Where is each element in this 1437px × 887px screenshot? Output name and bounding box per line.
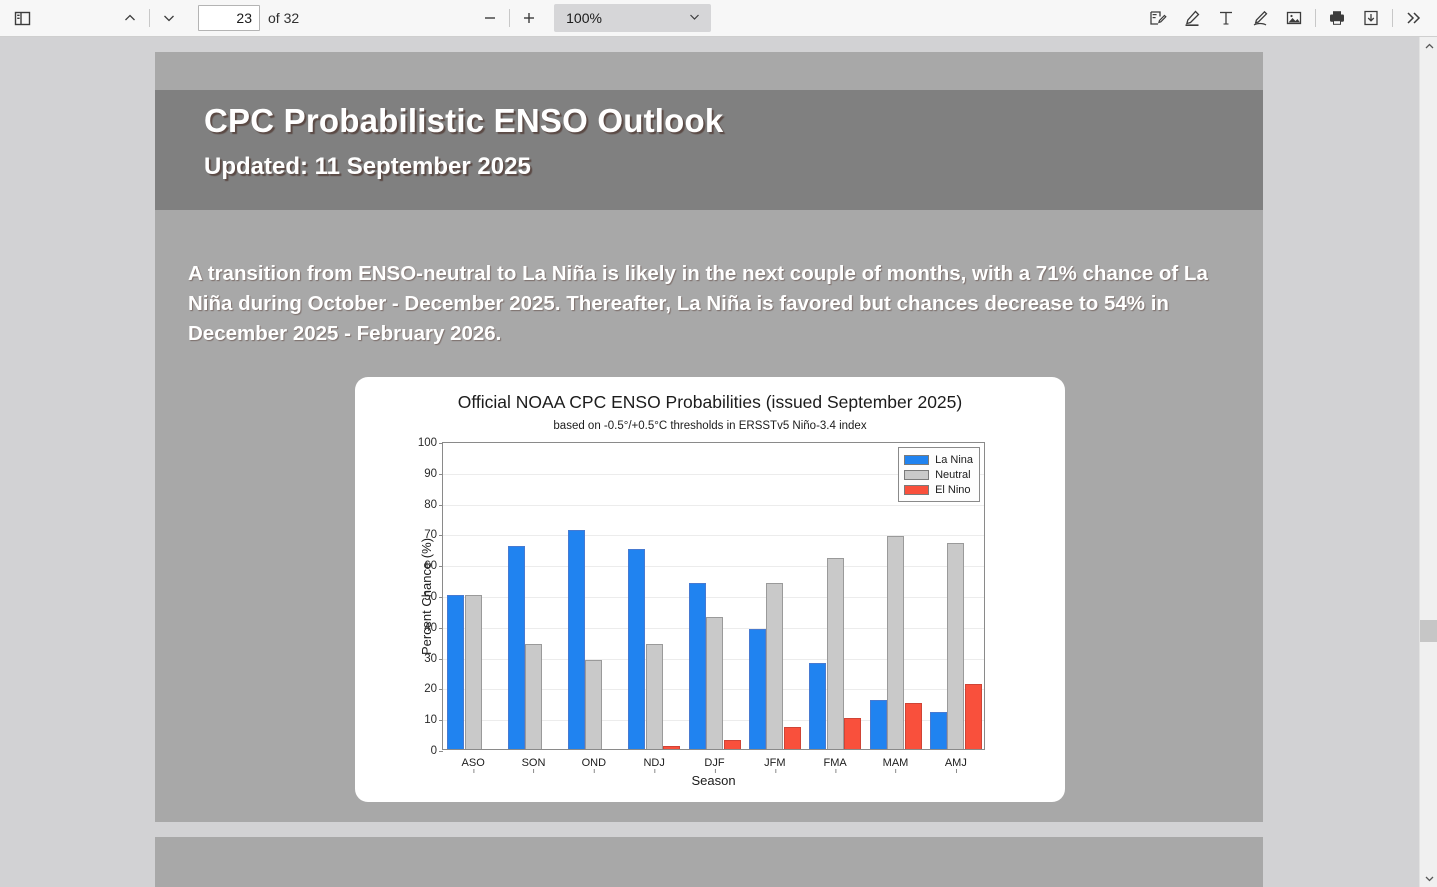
gridline [443,505,984,506]
zoom-out-button[interactable] [475,3,505,33]
sidebar-toggle-icon[interactable] [7,3,37,33]
y-axis-tick-label: 60 [424,560,437,572]
pdf-viewer[interactable]: CPC Probabilistic ENSO Outlook Updated: … [0,37,1419,887]
x-axis-tick-label: ASO [462,757,485,769]
legend-label: La Nina [935,454,973,466]
vertical-scrollbar[interactable] [1419,37,1437,887]
chart-title: Official NOAA CPC ENSO Probabilities (is… [355,392,1065,413]
chart-bar [508,546,525,749]
y-axis-tick-mark [439,689,443,690]
legend-swatch [904,485,929,495]
scroll-up-icon[interactable] [1420,37,1437,55]
chart-bar [689,583,706,749]
chart-subtitle: based on -0.5°/+0.5°C thresholds in ERSS… [355,420,1065,432]
toolbar-divider [509,9,510,27]
chart-bar [447,595,464,749]
page-count-label: of 32 [268,10,299,26]
chart-bar [706,617,723,749]
legend-swatch [904,470,929,480]
enso-probability-chart: Official NOAA CPC ENSO Probabilities (is… [355,377,1065,802]
chart-bar [766,583,783,749]
chart-bar [887,536,904,749]
chart-bar [585,660,602,749]
x-axis-tick-label: OND [582,757,606,769]
zoom-level-select[interactable]: 100% [554,4,711,32]
chart-legend: La NinaNeutralEl Nino [898,447,980,502]
summary-paragraph: A transition from ENSO-neutral to La Niñ… [188,259,1223,349]
x-axis-tick-label: FMA [824,757,847,769]
page-title: CPC Probabilistic ENSO Outlook [204,102,723,140]
add-text-icon[interactable] [1209,3,1243,33]
chart-bar [663,746,680,749]
toolbar-divider [1392,9,1393,27]
y-axis-tick-mark [439,628,443,629]
y-axis-tick-label: 80 [424,499,437,511]
legend-item: El Nino [904,482,973,497]
page-updated-date: Updated: 11 September 2025 [204,153,531,181]
highlight-icon[interactable] [1175,3,1209,33]
x-axis-tick-label: DJF [704,757,724,769]
chart-bar [870,700,887,749]
chart-bar [568,530,585,749]
chart-bar [930,712,947,749]
y-axis-tick-label: 70 [424,529,437,541]
y-axis-tick-mark [439,474,443,475]
toolbar-divider [1315,9,1316,27]
chart-bar [809,663,826,749]
chart-bar [827,558,844,749]
chart-bar [965,684,982,749]
chart-bar [947,543,964,749]
chart-bar [905,703,922,749]
chart-bar [465,595,482,749]
toolbar-divider [149,9,150,27]
chevron-up-icon[interactable] [115,3,145,33]
y-axis-tick-mark [439,720,443,721]
y-axis-tick-label: 0 [431,745,437,757]
chevron-down-icon[interactable] [154,3,184,33]
chart-x-axis-label: Season [442,773,985,788]
add-note-icon[interactable] [1141,3,1175,33]
y-axis-tick-label: 20 [424,683,437,695]
legend-label: Neutral [935,469,970,481]
y-axis-tick-mark [439,535,443,536]
page-navigation: of 32 [115,3,299,33]
legend-item: La Nina [904,452,973,467]
draw-icon[interactable] [1243,3,1277,33]
zoom-controls: 100% [475,3,711,33]
legend-label: El Nino [935,484,970,496]
y-axis-tick-label: 100 [418,437,437,449]
save-icon[interactable] [1354,3,1388,33]
pdf-page-24 [155,837,1263,887]
y-axis-tick-label: 90 [424,468,437,480]
chart-bar [628,549,645,749]
y-axis-tick-mark [439,443,443,444]
chart-bar [525,644,542,749]
chart-plot-area: 0102030405060708090100 ASOSONONDNDJDJFJF… [442,442,985,750]
scroll-down-icon[interactable] [1420,869,1437,887]
pdf-page-23: CPC Probabilistic ENSO Outlook Updated: … [155,52,1263,822]
chart-bar [844,718,861,749]
x-axis-tick-label: MAM [883,757,909,769]
y-axis-tick-mark [439,505,443,506]
y-axis-tick-mark [439,751,443,752]
annotation-tools [1141,3,1437,33]
x-axis-tick-label: NDJ [643,757,664,769]
zoom-level-value: 100% [566,10,602,26]
scrollbar-thumb[interactable] [1420,620,1437,642]
page-number-input[interactable] [198,5,260,31]
print-icon[interactable] [1320,3,1354,33]
y-axis-tick-label: 30 [424,653,437,665]
chart-bar [646,644,663,749]
more-tools-icon[interactable] [1397,3,1431,33]
legend-item: Neutral [904,467,973,482]
y-axis-tick-label: 50 [424,591,437,603]
legend-swatch [904,455,929,465]
y-axis-tick-label: 40 [424,622,437,634]
pdf-toolbar: of 32 100% [0,0,1437,37]
y-axis-tick-mark [439,566,443,567]
chart-bar [784,727,801,749]
chart-bar [749,629,766,749]
zoom-in-button[interactable] [514,3,544,33]
x-axis-tick-label: SON [522,757,546,769]
y-axis-tick-mark [439,659,443,660]
add-image-icon[interactable] [1277,3,1311,33]
chart-bar [724,740,741,749]
x-axis-tick-label: AMJ [945,757,967,769]
y-axis-tick-label: 10 [424,714,437,726]
x-axis-tick-label: JFM [764,757,785,769]
y-axis-tick-mark [439,597,443,598]
chevron-down-icon [688,10,701,26]
